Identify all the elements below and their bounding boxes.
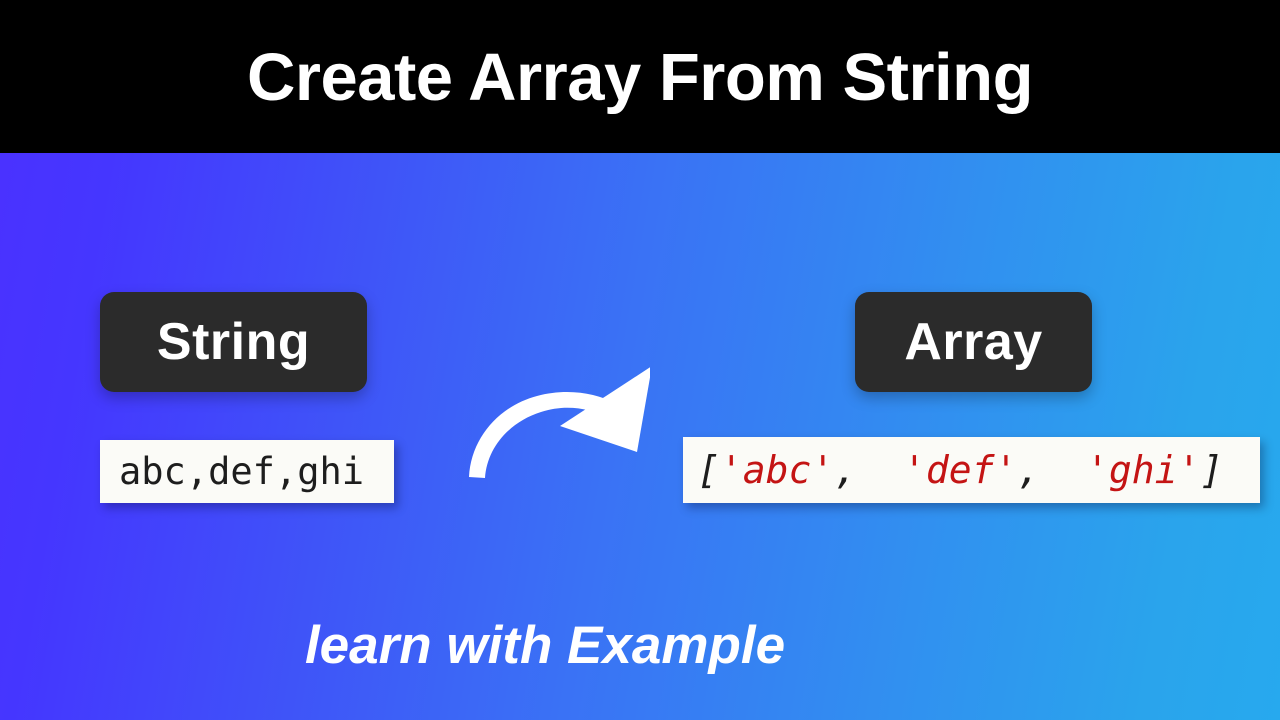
string-badge: String: [100, 292, 367, 392]
array-gap-2: [1040, 451, 1086, 489]
title-bar: Create Array From String: [0, 0, 1280, 153]
array-badge: Array: [855, 292, 1092, 392]
string-badge-label: String: [157, 316, 310, 368]
array-open-bracket: [: [697, 451, 720, 489]
array-comma-1: ,: [834, 451, 857, 489]
array-badge-label: Array: [904, 316, 1042, 368]
page-title: Create Array From String: [247, 44, 1033, 111]
curved-arrow-right-icon: [455, 360, 650, 485]
content-stage: String abc,def,ghi Array ['abc', 'def', …: [0, 153, 1280, 720]
array-code-box: ['abc', 'def', 'ghi']: [683, 437, 1260, 503]
array-item-3: 'ghi': [1086, 451, 1200, 489]
array-item-2: 'def': [903, 451, 1017, 489]
string-code-box: abc,def,ghi: [100, 440, 394, 503]
array-comma-2: ,: [1017, 451, 1040, 489]
array-item-1: 'abc': [720, 451, 834, 489]
tagline: learn with Example: [0, 616, 1280, 677]
array-gap-1: [857, 451, 903, 489]
slide-canvas: Create Array From String String abc,def,…: [0, 0, 1280, 720]
array-close-bracket: ]: [1200, 451, 1223, 489]
string-code-value: abc,def,ghi: [119, 453, 364, 490]
